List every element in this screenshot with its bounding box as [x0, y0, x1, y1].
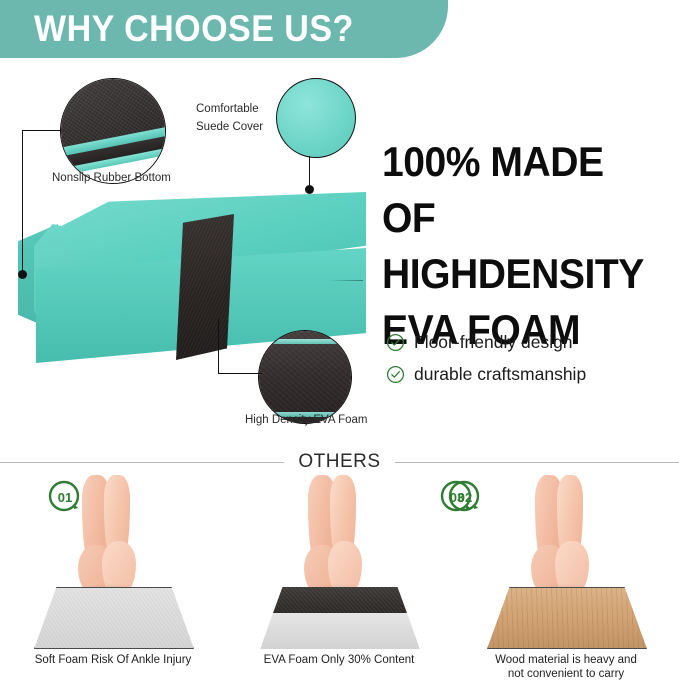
mat-low-content-eva: [260, 587, 420, 649]
divider-line-left: [0, 462, 284, 463]
leader-line-rubber-vertical: [22, 130, 23, 275]
comparison-caption-line2: not convenient to carry: [453, 667, 679, 681]
comparison-column: 01 Soft Foam Risk Of Ankle Injury: [0, 475, 226, 675]
comparison-caption: Soft Foam Risk Of Ankle Injury: [0, 653, 226, 667]
feet-illustration: [304, 483, 376, 601]
feature-label: Floor-friendly design: [414, 332, 573, 353]
feet-illustration: [531, 483, 603, 601]
comparison-caption: Wood material is heavy and not convenien…: [453, 653, 679, 681]
comparison-section: 01 Soft Foam Risk Of Ankle Injury: [0, 475, 679, 675]
comparison-caption-line1: Wood material is heavy and: [453, 653, 679, 667]
feet-illustration: [78, 483, 150, 601]
comparison-column: 02 EVA Foam Only 30% Content: [226, 475, 452, 675]
infographic-root: WHY CHOOSE US? Nonslip Rubber Bottom Com…: [0, 0, 679, 675]
eva-edge-top: [259, 339, 351, 344]
headline-line-1: 100% MADE OF: [382, 134, 652, 246]
check-circle-icon: [386, 365, 405, 384]
comparison-caption: EVA Foam Only 30% Content: [226, 653, 452, 667]
leader-dot-suede: [305, 185, 314, 194]
badge-number: 01: [48, 480, 82, 514]
headline-block: 100% MADE OF HIGHDENSITY EVA FOAM: [382, 134, 652, 358]
others-divider: OTHERS: [0, 449, 679, 475]
eva-foam-texture: [259, 331, 351, 423]
mat-surface: [487, 587, 647, 649]
feature-label: durable craftsmanship: [414, 364, 586, 385]
mat-layer-foam: [260, 612, 420, 650]
leader-line-eva-horizontal: [218, 373, 262, 374]
mat-soft-foam: [34, 587, 194, 649]
headline-line-2: HIGHDENSITY: [382, 246, 652, 302]
callout-label-suede-line2: Suede Cover: [196, 121, 263, 133]
badge-01: 01: [48, 480, 82, 514]
page-title: WHY CHOOSE US?: [34, 6, 354, 52]
badge-03: 03: [440, 480, 474, 514]
badge-number: 03: [440, 480, 474, 514]
callout-label-nonslip-rubber-bottom: Nonslip Rubber Bottom: [52, 172, 171, 184]
comparison-column: 03 Wood material is heavy and not conven…: [453, 475, 679, 675]
rubber-swatch: [61, 79, 165, 183]
check-circle-icon: [386, 333, 405, 352]
feature-item: durable craftsmanship: [386, 358, 676, 390]
callout-high-density-eva-foam: [258, 330, 352, 424]
mat-layer-eva: [260, 587, 420, 613]
callout-comfortable-suede-cover: [276, 78, 356, 158]
leader-line-suede: [309, 156, 310, 188]
divider-label: OTHERS: [284, 451, 394, 473]
callout-label-suede-line1: Comfortable: [196, 103, 259, 115]
mat-surface: [260, 587, 420, 649]
mat-surface: [34, 587, 194, 649]
callout-label-high-density-eva-foam: High Density EVA Foam: [245, 414, 368, 426]
leader-dot-rubber: [18, 270, 27, 279]
feature-list: Floor-friendly design durable craftsmans…: [386, 326, 676, 390]
mat-wood-board: [487, 587, 647, 649]
divider-line-right: [395, 462, 679, 463]
callout-nonslip-rubber-bottom: [60, 78, 166, 184]
leader-line-eva-vertical: [218, 318, 219, 374]
feature-item: Floor-friendly design: [386, 326, 676, 358]
header-banner: WHY CHOOSE US?: [0, 0, 448, 58]
